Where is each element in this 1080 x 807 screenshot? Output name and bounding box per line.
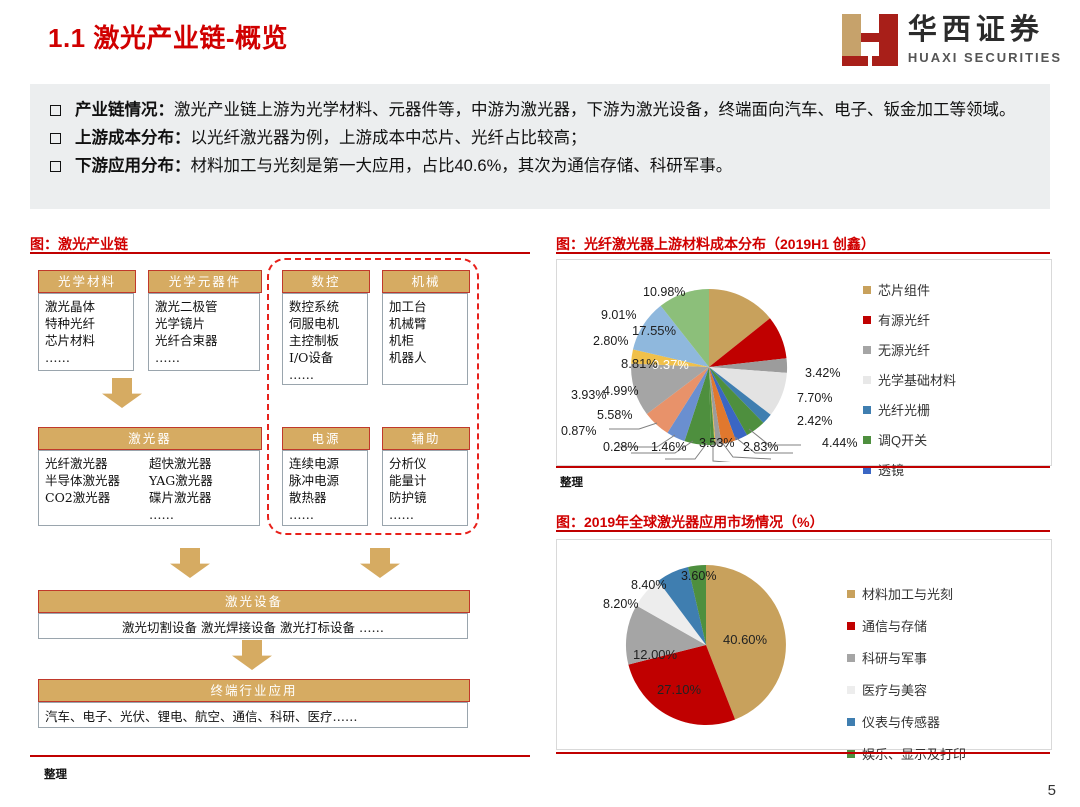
- box-header-laser-equipment: 激光设备: [38, 590, 470, 613]
- chart2-label-5: 3.60%: [681, 569, 716, 583]
- diagram-source: 整理: [44, 766, 67, 782]
- chart1-legend: 芯片组件 有源光纤 无源光纤 光学基础材料 光纤光栅 调Q开关 透镜: [863, 280, 956, 490]
- legend-item[interactable]: 光学基础材料: [863, 370, 956, 389]
- logo-chinese-name: 华西证券: [908, 16, 1062, 45]
- down-arrow-mid-to-equipment-left: [170, 548, 210, 578]
- box-header-cnc: 数控: [282, 270, 370, 293]
- chart1-label-6: 2.83%: [743, 440, 778, 454]
- chart2-title: 图：2019年全球激光器应用市场情况（%）: [556, 512, 824, 532]
- chart1-title: 图：光纤激光器上游材料成本分布（2019H1 创鑫）: [556, 234, 875, 254]
- diagram-bottom-rule: [30, 755, 530, 757]
- chart1-label-17: 10.98%: [643, 285, 685, 299]
- legend-label: 光纤光栅: [878, 400, 930, 419]
- bullet-label: 上游成本分布：: [75, 129, 191, 147]
- summary-bullet: 产业链情况：激光产业链上游为光学材料、元器件等，中游为激光器，下游为激光设备，终…: [30, 84, 1050, 124]
- laser-col-2: 超快激光器 YAG激光器 碟片激光器 ……: [149, 455, 253, 521]
- box-body-mechanical: 加工台 机械臂 机柜 机器人: [382, 293, 468, 385]
- huaxi-logo-mark: [842, 14, 898, 66]
- chart2-label-3: 8.20%: [603, 597, 638, 611]
- chart1-label-14: 8.81%: [621, 356, 658, 371]
- legend-label: 科研与军事: [862, 648, 927, 667]
- down-arrow-upstream-to-midstream: [102, 378, 142, 408]
- legend-item[interactable]: 通信与存储: [847, 616, 966, 635]
- chart1-label-8: 1.46%: [651, 440, 686, 454]
- chart1-panel: 17.55% 9.37% 3.42% 7.70% 2.42% 4.44% 2.8…: [556, 259, 1052, 466]
- chart1-pie-svg: [559, 262, 859, 462]
- square-bullet-icon: [50, 105, 61, 116]
- legend-item[interactable]: 光纤光栅: [863, 400, 956, 419]
- legend-label: 仪表与传感器: [862, 712, 940, 731]
- box-header-laser: 激光器: [38, 427, 262, 450]
- chart2-panel: 40.60% 27.10% 12.00% 8.20% 8.40% 3.60% 材…: [556, 539, 1052, 750]
- box-header-power: 电源: [282, 427, 370, 450]
- legend-label: 医疗与美容: [862, 680, 927, 699]
- legend-item[interactable]: 科研与军事: [847, 648, 966, 667]
- summary-panel: 产业链情况：激光产业链上游为光学材料、元器件等，中游为激光器，下游为激光设备，终…: [30, 84, 1050, 209]
- box-body-cnc: 数控系统 伺服电机 主控制板 I/O设备 ……: [282, 293, 368, 385]
- box-body-auxiliary: 分析仪 能量计 防护镜 ……: [382, 450, 468, 526]
- summary-bullet: 下游应用分布：材料加工与光刻是第一大应用，占比40.6%，其次为通信存储、科研军…: [30, 152, 1050, 180]
- legend-swatch-icon: [863, 346, 871, 354]
- square-bullet-icon: [50, 161, 61, 172]
- legend-label: 调Q开关: [878, 430, 927, 449]
- chart1-label-13: 4.99%: [603, 384, 638, 398]
- company-logo: 华西证券 HUAXI SECURITIES: [842, 14, 1062, 66]
- chart1-label-10: 0.87%: [561, 424, 596, 438]
- box-body-optical-component: 激光二极管 光学镜片 光纤合束器 ……: [148, 293, 260, 371]
- bullet-text: 激光产业链上游为光学材料、元器件等，中游为激光器，下游为激光设备，终端面向汽车、…: [174, 101, 1016, 119]
- chart1-label-9: 0.28%: [603, 440, 638, 454]
- legend-item[interactable]: 调Q开关: [863, 430, 956, 449]
- legend-swatch-icon: [847, 590, 855, 598]
- bullet-text: 材料加工与光刻是第一大应用，占比40.6%，其次为通信存储、科研军事。: [191, 157, 733, 175]
- down-arrow-equipment-to-enduse: [232, 640, 272, 670]
- chart1-bottom-rule: [556, 466, 1050, 468]
- legend-swatch-icon: [863, 316, 871, 324]
- legend-label: 芯片组件: [878, 280, 930, 299]
- legend-swatch-icon: [863, 376, 871, 384]
- legend-swatch-icon: [863, 436, 871, 444]
- legend-swatch-icon: [847, 654, 855, 662]
- chart1-title-rule: [556, 252, 1050, 254]
- industry-chain-diagram: 光学材料 激光晶体 特种光纤 芯片材料 …… 光学元器件 激光二极管 光学镜片 …: [30, 252, 530, 747]
- chart1-label-11: 5.58%: [597, 408, 632, 422]
- legend-label: 无源光纤: [878, 340, 930, 359]
- logo-english-name: HUAXI SECURITIES: [908, 51, 1062, 64]
- box-body-power: 连续电源 脉冲电源 散热器 ……: [282, 450, 368, 526]
- bullet-label: 产业链情况：: [75, 101, 174, 119]
- legend-swatch-icon: [863, 286, 871, 294]
- chart1-label-5: 4.44%: [822, 436, 857, 450]
- chart1-label-15: 2.80%: [593, 334, 628, 348]
- laser-col-1: 光纤激光器 半导体激光器 CO2激光器: [45, 455, 149, 521]
- diagram-title: 图：激光产业链: [30, 234, 128, 254]
- box-header-optical-material: 光学材料: [38, 270, 136, 293]
- bullet-label: 下游应用分布：: [75, 157, 191, 175]
- box-header-auxiliary: 辅助: [382, 427, 470, 450]
- box-body-laser-equipment: 激光切割设备 激光焊接设备 激光打标设备 ……: [38, 613, 468, 639]
- bullet-text: 以光纤激光器为例，上游成本中芯片、光纤占比较高；: [191, 129, 587, 147]
- legend-item[interactable]: 无源光纤: [863, 340, 956, 359]
- legend-label: 有源光纤: [878, 310, 930, 329]
- box-body-end-industry: 汽车、电子、光伏、锂电、航空、通信、科研、医疗……: [38, 702, 468, 728]
- page-number: 5: [1048, 782, 1056, 799]
- legend-label: 光学基础材料: [878, 370, 956, 389]
- legend-item[interactable]: 医疗与美容: [847, 680, 966, 699]
- page-title: 1.1 激光产业链-概览: [48, 18, 288, 55]
- chart1-label-0: 17.55%: [632, 323, 676, 338]
- chart1-label-2: 3.42%: [805, 366, 840, 380]
- chart2-label-1: 27.10%: [657, 682, 701, 697]
- legend-label: 通信与存储: [862, 616, 927, 635]
- legend-label: 透镜: [878, 460, 904, 479]
- chart2-legend: 材料加工与光刻 通信与存储 科研与军事 医疗与美容 仪表与传感器 娱乐、显示及打…: [847, 584, 966, 776]
- legend-item[interactable]: 仪表与传感器: [847, 712, 966, 731]
- box-header-mechanical: 机械: [382, 270, 470, 293]
- legend-swatch-icon: [847, 622, 855, 630]
- chart1-label-12: 3.93%: [571, 388, 606, 402]
- legend-item[interactable]: 有源光纤: [863, 310, 956, 329]
- legend-item[interactable]: 透镜: [863, 460, 956, 479]
- legend-label: 材料加工与光刻: [862, 584, 953, 603]
- legend-swatch-icon: [847, 686, 855, 694]
- box-body-laser: 光纤激光器 半导体激光器 CO2激光器 超快激光器 YAG激光器 碟片激光器 ……: [38, 450, 260, 526]
- chart2-title-rule: [556, 530, 1050, 532]
- legend-swatch-icon: [847, 718, 855, 726]
- chart2-label-2: 12.00%: [633, 647, 677, 662]
- summary-bullet: 上游成本分布：以光纤激光器为例，上游成本中芯片、光纤占比较高；: [30, 124, 1050, 152]
- square-bullet-icon: [50, 133, 61, 144]
- legend-swatch-icon: [863, 406, 871, 414]
- chart1-label-16: 9.01%: [601, 308, 636, 322]
- down-arrow-mid-to-equipment-right: [360, 548, 400, 578]
- chart1-label-4: 2.42%: [797, 414, 832, 428]
- chart2-label-0: 40.60%: [723, 632, 767, 647]
- box-header-optical-component: 光学元器件: [148, 270, 262, 293]
- legend-item[interactable]: 材料加工与光刻: [847, 584, 966, 603]
- chart2-label-4: 8.40%: [631, 578, 666, 592]
- chart2-bottom-rule: [556, 752, 1050, 754]
- legend-item[interactable]: 芯片组件: [863, 280, 956, 299]
- box-body-optical-material: 激光晶体 特种光纤 芯片材料 ……: [38, 293, 134, 371]
- chart1-label-3: 7.70%: [797, 391, 832, 405]
- chart1-source: 整理: [560, 474, 583, 490]
- chart1-label-7: 3.53%: [699, 436, 734, 450]
- box-header-end-industry: 终端行业应用: [38, 679, 470, 702]
